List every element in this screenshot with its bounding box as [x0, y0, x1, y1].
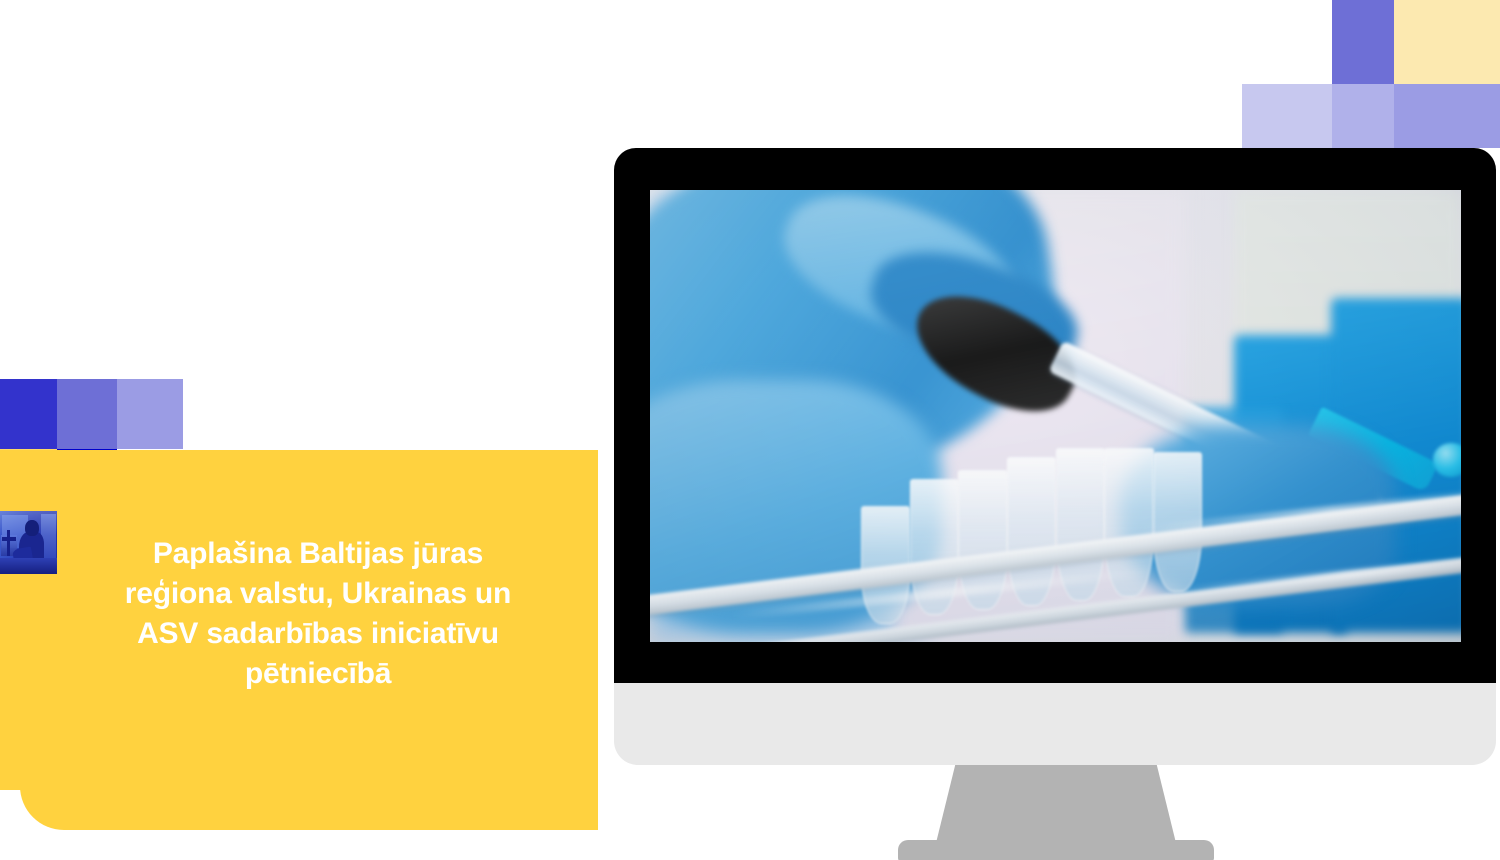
page-title: Paplašina Baltijas jūras reģiona valstu,…: [58, 534, 578, 694]
deco-indigo-square: [0, 379, 57, 449]
deco-lavender-mid-square: [1332, 84, 1394, 148]
desktop-monitor: [614, 148, 1496, 765]
monitor-stand: [936, 765, 1176, 843]
monitor-screen: [650, 190, 1461, 642]
monitor-chin: [614, 683, 1496, 765]
deco-pale-yellow-square: [1394, 0, 1500, 84]
deco-periwinkle-square: [57, 379, 117, 449]
deco-purple-square: [1332, 0, 1394, 84]
headline-line-1: Paplašina Baltijas jūras: [58, 534, 578, 574]
headline-line-4: pētniecībā: [58, 654, 578, 694]
headline-line-3: ASV sadarbības iniciatīvu: [58, 614, 578, 654]
headline-line-2: reģiona valstu, Ukrainas un: [58, 574, 578, 614]
deco-lavender-square: [1394, 84, 1500, 148]
laboratory-pipette-photo: [650, 190, 1461, 642]
monitor-stand-foot: [898, 840, 1214, 860]
lab-researcher-duotone-photo: [0, 511, 57, 574]
deco-lavender-square-2: [117, 379, 183, 449]
poster-canvas: Paplašina Baltijas jūras reģiona valstu,…: [0, 0, 1500, 860]
deco-lavender-light-square: [1242, 84, 1332, 148]
